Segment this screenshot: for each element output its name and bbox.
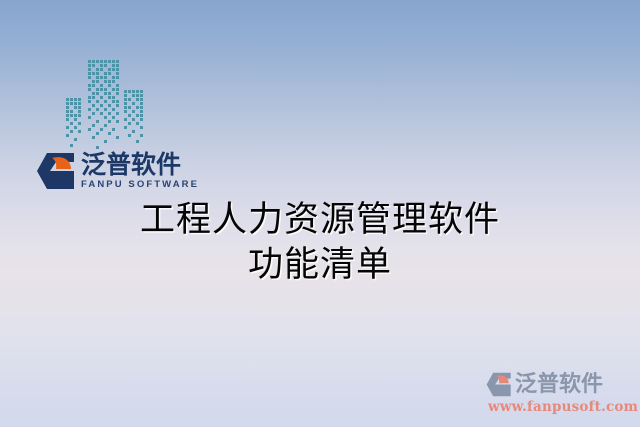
brand-name-cn: 泛普软件 — [81, 152, 199, 178]
slide-title-line-1: 工程人力资源管理软件 — [0, 198, 640, 243]
slide-title-block: 工程人力资源管理软件 功能清单 — [0, 198, 640, 288]
presentation-slide: 泛普软件 FANPU SOFTWARE 工程人力资源管理软件 功能清单 泛普软件… — [0, 0, 640, 427]
site-watermark: 泛普软件 www.fanpusoft.com — [486, 372, 634, 415]
pixel-city-skyline-icon — [62, 58, 148, 152]
fanpu-watermark-mark-icon — [486, 372, 512, 397]
slide-title-line-2: 功能清单 — [0, 243, 640, 288]
watermark-url: www.fanpusoft.com — [488, 399, 634, 415]
brand-logo: 泛普软件 FANPU SOFTWARE — [36, 152, 199, 190]
watermark-logo-row: 泛普软件 — [486, 372, 634, 397]
brand-wordmark: 泛普软件 FANPU SOFTWARE — [81, 152, 199, 190]
fanpu-logo-mark-icon — [36, 152, 76, 190]
watermark-name-cn: 泛普软件 — [515, 374, 603, 396]
brand-name-en: FANPU SOFTWARE — [81, 179, 199, 190]
